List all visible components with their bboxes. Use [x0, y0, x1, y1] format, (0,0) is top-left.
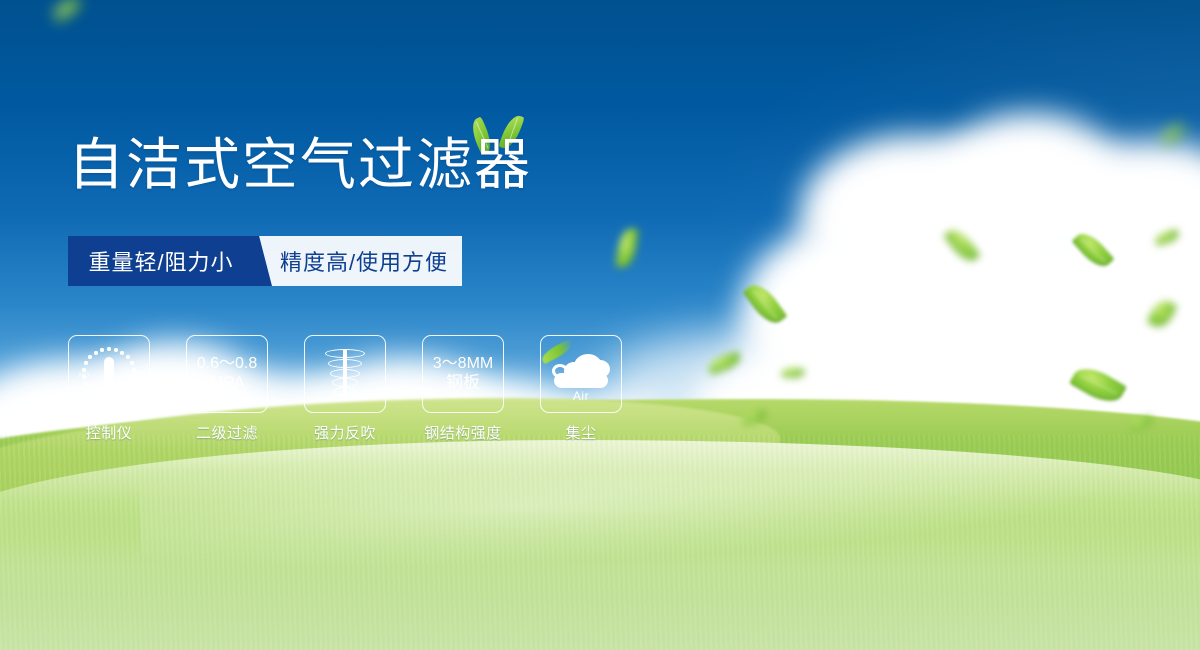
- page-title: 自洁式空气过滤器: [68, 137, 532, 193]
- gauge-off-label: OFF: [126, 390, 141, 400]
- feature-item-controller[interactable]: NO OFF 控制仪: [68, 335, 150, 443]
- subtitle-right-segment: 精度高/使用方便: [254, 236, 462, 286]
- steel-material: 钢板: [446, 373, 480, 393]
- gauge-icon: NO OFF: [80, 345, 138, 403]
- feature-label-controller: 控制仪: [86, 422, 133, 443]
- subtitle-left-text: 重量轻/阻力小: [88, 245, 233, 277]
- feature-label-pressure: 二级过滤: [196, 422, 258, 443]
- feature-list: NO OFF 控制仪 0.6～0.8 MPA 二级过滤: [68, 335, 622, 443]
- feature-box-blowback: [304, 335, 386, 413]
- cloud-air-icon: Air: [550, 348, 612, 400]
- subtitle-bar: 重量轻/阻力小 精度高/使用方便: [68, 236, 462, 286]
- steel-thickness: 3～8MM: [433, 355, 493, 373]
- promo-banner: 自洁式空气过滤器 重量轻/阻力小 精度高/使用方便: [0, 0, 1200, 650]
- gauge-no-label: NO: [79, 372, 89, 379]
- feature-label-blowback: 强力反吹: [314, 422, 376, 443]
- feature-item-steel[interactable]: 3～8MM 钢板 钢结构强度: [422, 335, 504, 443]
- leaf-icon: [539, 339, 574, 365]
- subtitle-left-segment: 重量轻/阻力小: [68, 236, 254, 286]
- grass-field-near: [0, 440, 1200, 650]
- pressure-value: 0.6～0.8: [197, 355, 258, 373]
- feature-box-pressure: 0.6～0.8 MPA: [186, 335, 268, 413]
- feature-box-dust: Air: [540, 335, 622, 413]
- feature-item-blowback[interactable]: 强力反吹: [304, 335, 386, 443]
- feature-item-dust[interactable]: Air 集尘: [540, 335, 622, 443]
- feature-label-dust: 集尘: [565, 422, 596, 443]
- feature-box-steel: 3～8MM 钢板: [422, 335, 504, 413]
- air-label: Air: [550, 389, 612, 403]
- feature-box-controller: NO OFF: [68, 335, 150, 413]
- feature-item-pressure[interactable]: 0.6～0.8 MPA 二级过滤: [186, 335, 268, 443]
- subtitle-right-text: 精度高/使用方便: [268, 245, 448, 277]
- feature-label-steel: 钢结构强度: [424, 422, 502, 443]
- pressure-unit: MPA: [209, 373, 245, 393]
- coil-icon: [317, 345, 373, 403]
